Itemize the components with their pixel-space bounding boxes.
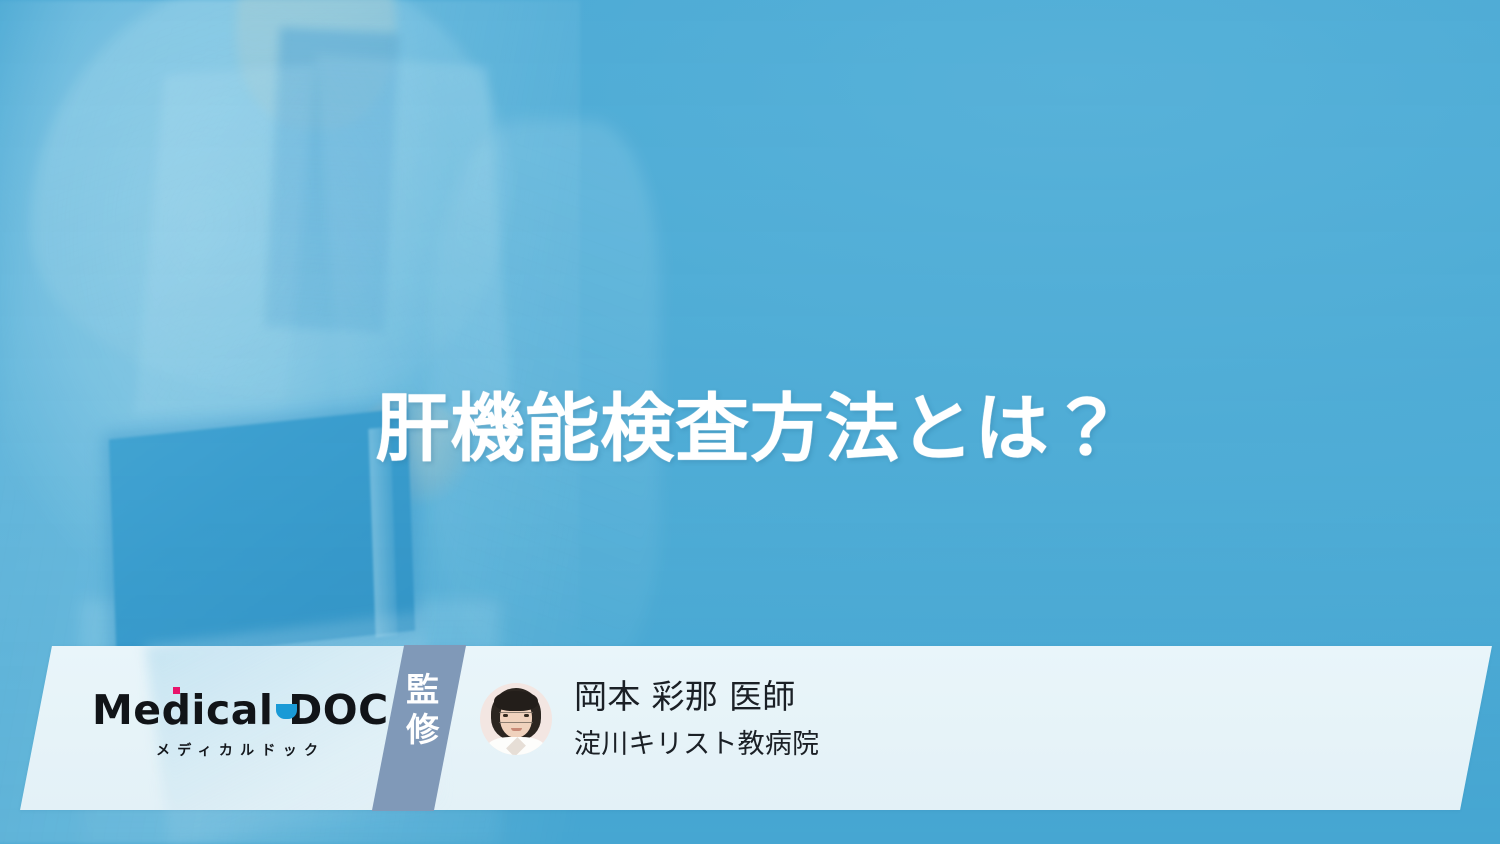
page-title: 肝機能検査方法とは？ (0, 390, 1500, 470)
supervision-label: 監 修 (392, 670, 454, 749)
avatar-eye-right (524, 714, 529, 717)
slide-canvas: 肝機能検査方法とは？ Medical DOC メディカルドック 監 修 (0, 0, 1500, 844)
avatar-fringe (494, 691, 538, 711)
brand-kana-subtitle: メディカルドック (92, 740, 382, 760)
logo-pink-dot-icon (173, 687, 180, 694)
supervisor-affiliation: 淀川キリスト教病院 (574, 731, 819, 758)
supervision-label-line2: 修 (392, 710, 454, 750)
brand-logo: Medical DOC メディカルドック (92, 690, 382, 760)
credit-bar-content: Medical DOC メディカルドック 監 修 (36, 646, 1476, 810)
brand-wordmark: Medical DOC (92, 690, 389, 731)
logo-blue-liquid-icon (276, 704, 297, 719)
brand-wordmark-text: Medical DOC (92, 686, 389, 734)
supervisor-text: 岡本 彩那 医師 淀川キリスト教病院 (574, 680, 819, 758)
credit-bar: Medical DOC メディカルドック 監 修 (20, 646, 1492, 810)
supervision-label-line1: 監 (392, 670, 454, 710)
supervisor-block: 岡本 彩那 医師 淀川キリスト教病院 (480, 680, 819, 758)
avatar (480, 683, 552, 755)
avatar-mouth (511, 728, 522, 731)
supervisor-name: 岡本 彩那 医師 (574, 680, 819, 713)
avatar-eye-left (503, 714, 508, 717)
